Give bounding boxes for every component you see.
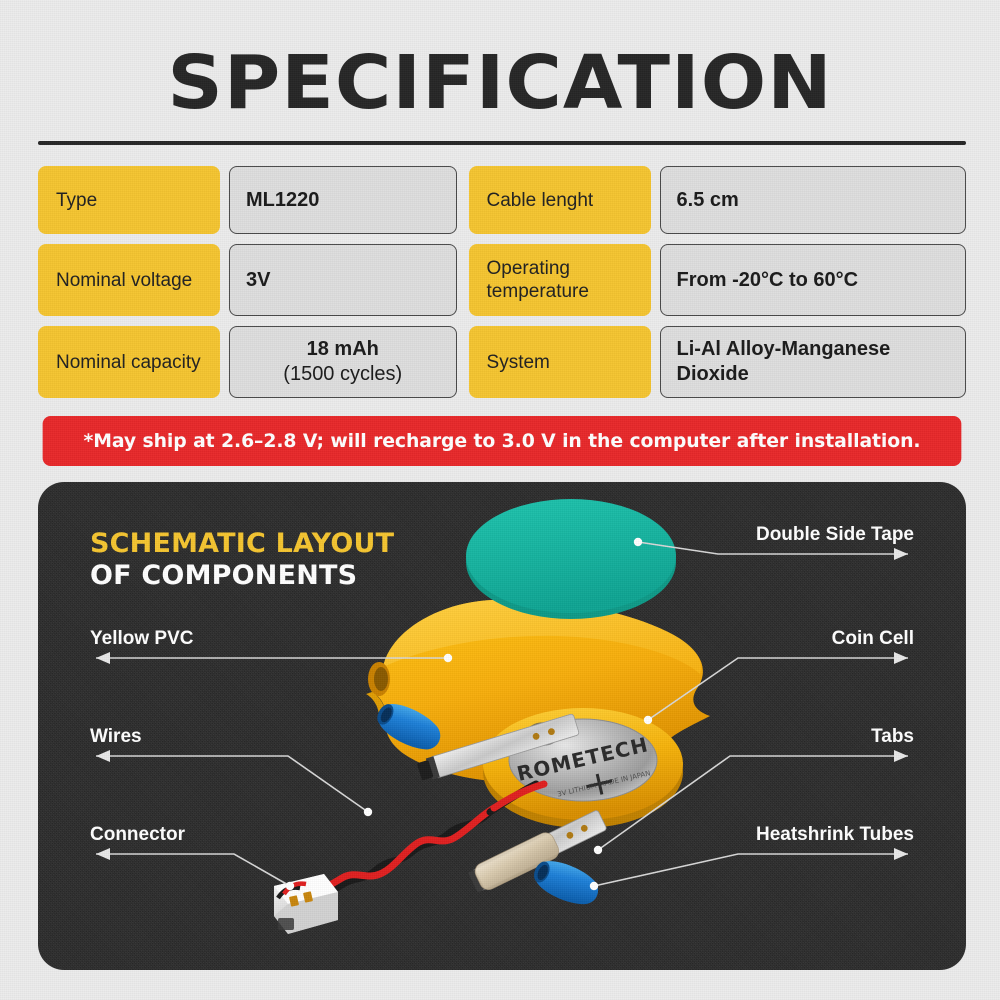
label-double-side-tape: Double Side Tape <box>756 524 914 546</box>
label-heatshrink-tubes: Heatshrink Tubes <box>756 824 914 846</box>
label-wires: Wires <box>90 726 142 748</box>
spec-label: Nominal voltage <box>38 244 220 316</box>
warning-banner: *May ship at 2.6–2.8 V; will recharge to… <box>43 416 962 466</box>
schematic-heading: SCHEMATIC LAYOUT OF COMPONENTS <box>90 528 394 592</box>
specification-table: Type ML1220 Cable lenght 6.5 cm Nominal … <box>38 166 966 408</box>
schematic-heading-line1: SCHEMATIC LAYOUT <box>90 528 394 560</box>
page-title: SPECIFICATION <box>0 46 1000 120</box>
spec-value-sub: (1500 cycles) <box>283 362 402 387</box>
title-divider <box>38 141 966 145</box>
spec-label: Type <box>38 166 220 234</box>
spec-value: ML1220 <box>229 166 457 234</box>
schematic-heading-line2: OF COMPONENTS <box>90 560 394 592</box>
spec-value: 6.5 cm <box>660 166 966 234</box>
table-row: Nominal capacity 18 mAh (1500 cycles) Sy… <box>38 326 966 398</box>
spec-label: Cable lenght <box>469 166 651 234</box>
label-yellow-pvc: Yellow PVC <box>90 628 193 650</box>
label-connector: Connector <box>90 824 185 846</box>
spec-label: System <box>469 326 651 398</box>
label-coin-cell: Coin Cell <box>832 628 914 650</box>
label-tabs: Tabs <box>871 726 914 748</box>
spec-value: 3V <box>229 244 457 316</box>
spec-value: Li-Al Alloy-Manganese Dioxide <box>660 326 966 398</box>
spec-value: From -20°C to 60°C <box>660 244 966 316</box>
spec-label: Nominal capacity <box>38 326 220 398</box>
table-row: Nominal voltage 3V Operating temperature… <box>38 244 966 316</box>
infographic-page: SPECIFICATION Type ML1220 Cable lenght 6… <box>0 0 1000 1000</box>
table-row: Type ML1220 Cable lenght 6.5 cm <box>38 166 966 234</box>
spec-value-main: 18 mAh <box>307 337 379 362</box>
schematic-panel: SCHEMATIC LAYOUT OF COMPONENTS <box>38 482 966 970</box>
spec-label: Operating temperature <box>469 244 651 316</box>
spec-value: 18 mAh (1500 cycles) <box>229 326 457 398</box>
